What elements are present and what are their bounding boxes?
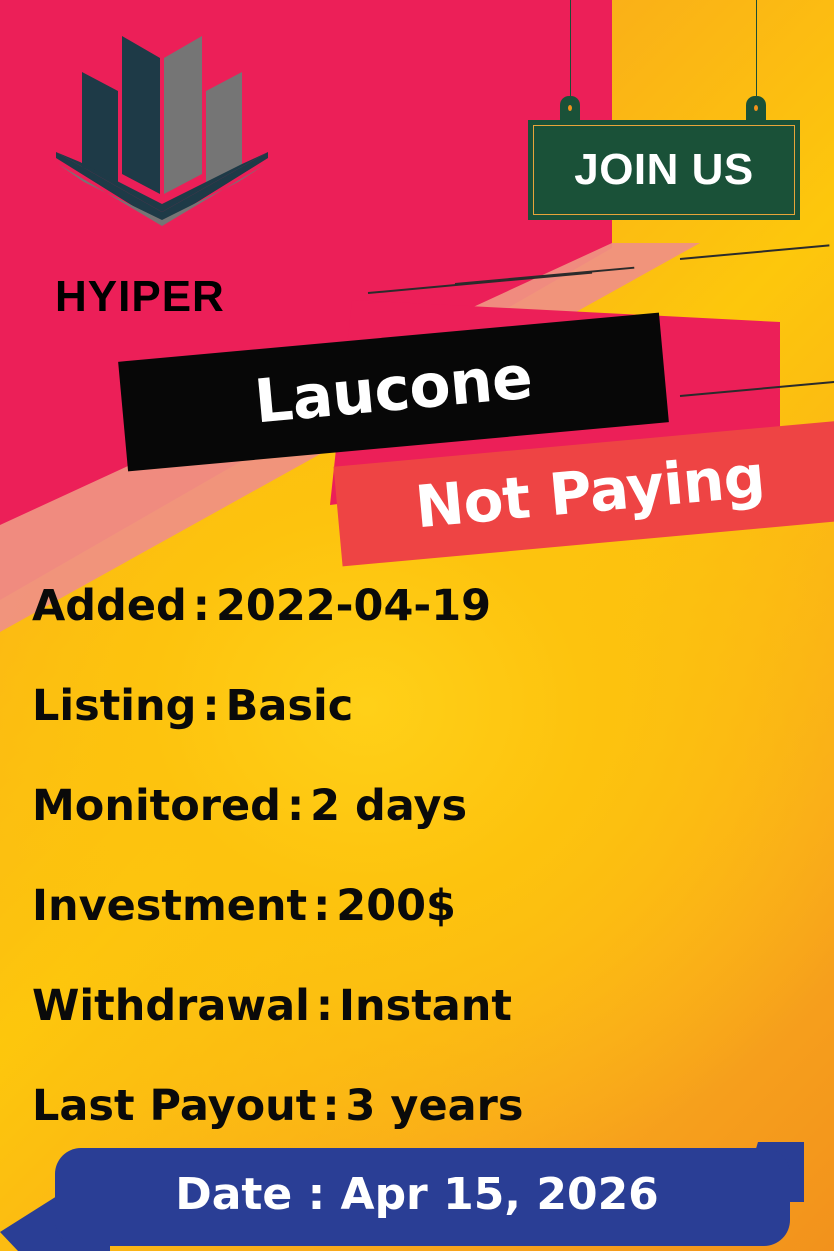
brand-logo: [52, 34, 272, 234]
detail-separator: :: [307, 881, 336, 931]
detail-row-added: Added : 2022-04-19: [32, 556, 732, 656]
detail-value: Instant: [339, 981, 512, 1031]
detail-key: Last Payout: [32, 1081, 316, 1131]
building-chevron-logo-icon: [52, 34, 272, 234]
detail-key: Withdrawal: [32, 981, 310, 1031]
sign-string-right: [756, 0, 757, 104]
detail-key: Listing: [32, 681, 196, 731]
detail-separator: :: [187, 581, 216, 631]
detail-row-investment: Investment : 200$: [32, 856, 732, 956]
join-us-label: JOIN US: [574, 145, 754, 195]
brand-name: HYIPER: [55, 272, 285, 322]
join-us-sign[interactable]: JOIN US: [528, 0, 800, 230]
detail-key: Added: [32, 581, 187, 631]
program-details-list: Added : 2022-04-19 Listing : Basic Monit…: [32, 556, 732, 1156]
detail-value: Basic: [226, 681, 354, 731]
detail-value: 2022-04-19: [216, 581, 491, 631]
status-badge: Not Paying: [412, 442, 767, 541]
hyip-listing-card: HYIPER JOIN US Laucone Not Paying Added …: [0, 0, 834, 1251]
sign-string-left: [570, 0, 571, 104]
date-bar: Date : Apr 15, 2026: [0, 1142, 834, 1251]
program-name: Laucone: [252, 343, 535, 438]
detail-row-listing: Listing : Basic: [32, 656, 732, 756]
detail-separator: :: [196, 681, 225, 731]
date-label: Date : Apr 15, 2026: [0, 1142, 834, 1251]
detail-value: 200$: [336, 881, 456, 931]
detail-key: Investment: [32, 881, 307, 931]
detail-row-last-payout: Last Payout : 3 years: [32, 1056, 732, 1156]
detail-key: Monitored: [32, 781, 281, 831]
detail-row-monitored: Monitored : 2 days: [32, 756, 732, 856]
detail-separator: :: [310, 981, 339, 1031]
detail-separator: :: [316, 1081, 345, 1131]
detail-separator: :: [281, 781, 310, 831]
join-us-board[interactable]: JOIN US: [528, 120, 800, 220]
detail-value: 2 days: [310, 781, 467, 831]
detail-row-withdrawal: Withdrawal : Instant: [32, 956, 732, 1056]
detail-value: 3 years: [346, 1081, 524, 1131]
